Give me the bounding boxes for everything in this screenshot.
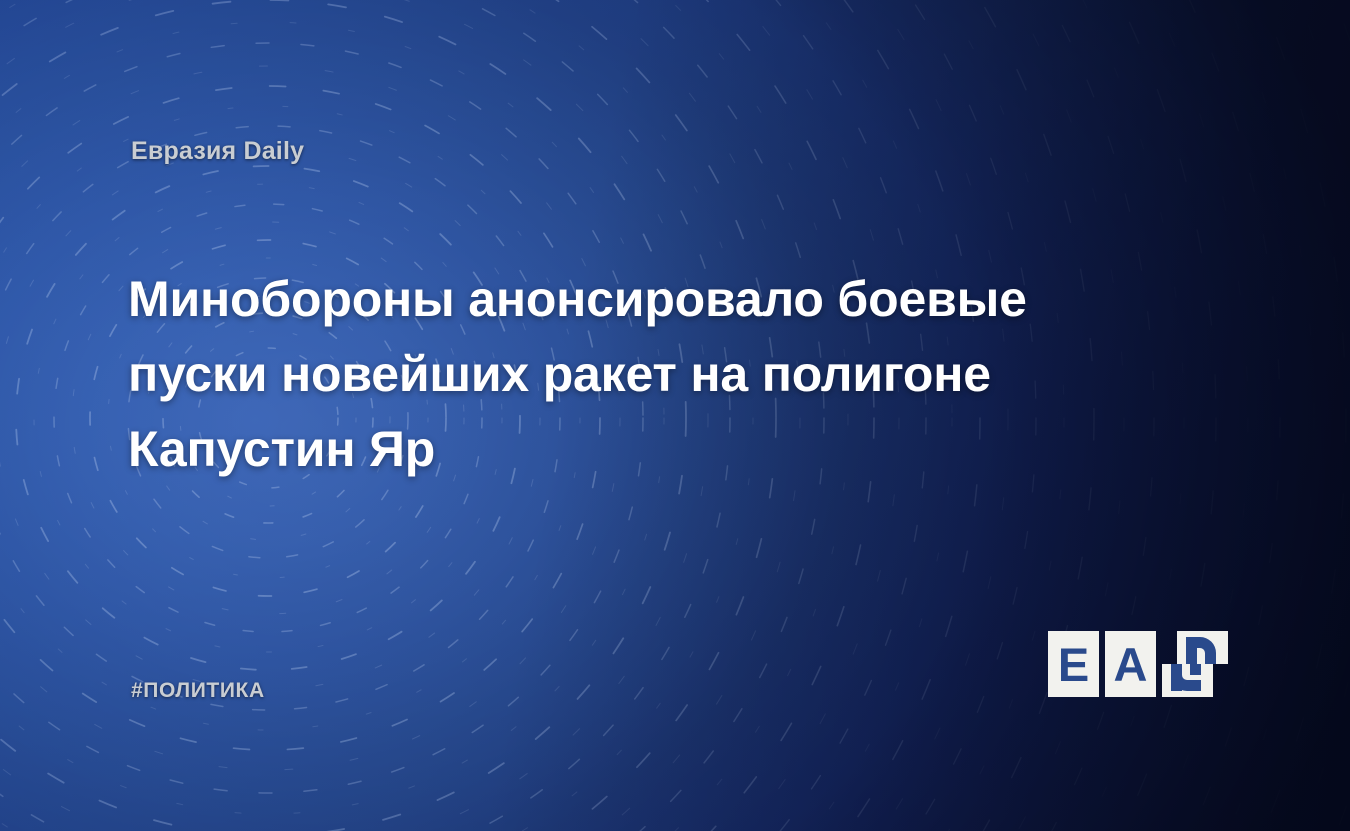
brand-wordmark: Евразия Daily bbox=[131, 137, 304, 166]
category-hashtag: #ПОЛИТИКА bbox=[131, 679, 265, 703]
news-social-card: Евразия Daily Минобороны анонсировало бо… bbox=[0, 0, 1350, 831]
logo-tile-e: E bbox=[1048, 631, 1099, 697]
ead-logo: E A bbox=[1048, 631, 1228, 697]
logo-tile-d bbox=[1162, 631, 1228, 697]
headline: Минобороны анонсировало боевые пуски нов… bbox=[128, 262, 1108, 487]
logo-tile-a: A bbox=[1105, 631, 1156, 697]
